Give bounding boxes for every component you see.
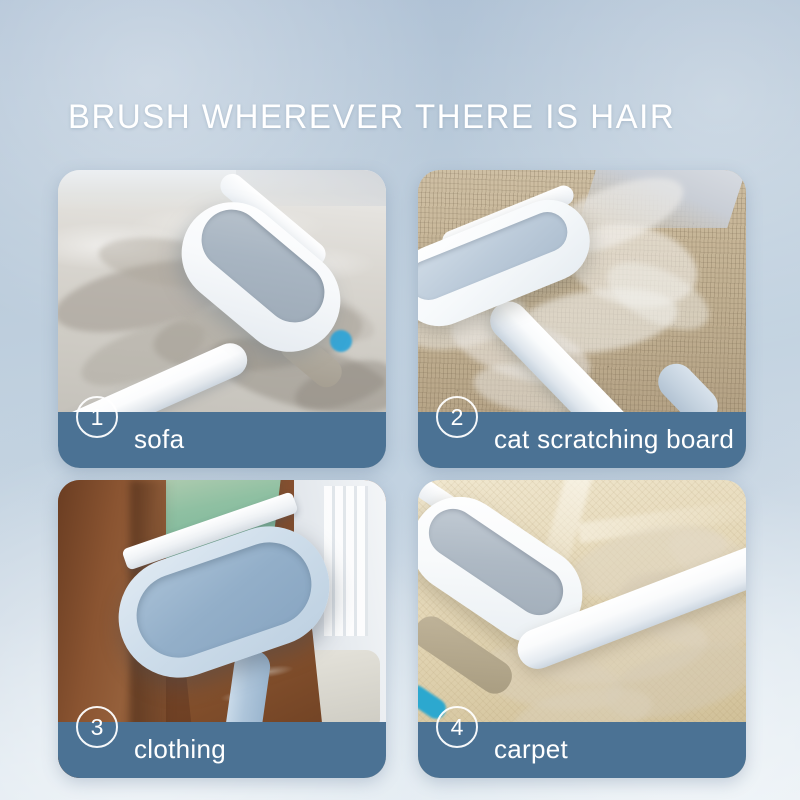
scenario-panel-sofa[interactable]: 1 sofa [58,170,386,468]
panel-label-bar: 1 sofa [58,412,386,468]
brush-teal-accent [330,330,352,352]
panel-label-text: sofa [134,426,184,454]
usage-scenario-grid: 1 sofa 2 cat scratching board [58,170,746,778]
panel-number-badge: 3 [76,706,118,748]
panel-label-bar: 2 cat scratching board [418,412,746,468]
panel-label-text: clothing [134,736,226,764]
clothing-background-window [324,486,368,636]
panel-number-badge: 1 [76,396,118,438]
scenario-panel-carpet[interactable]: 4 carpet [418,480,746,778]
panel-label-bar: 3 clothing [58,722,386,778]
panel-label-bar: 4 carpet [418,722,746,778]
panel-number-badge: 4 [436,706,478,748]
scenario-panel-cat-scratching-board[interactable]: 2 cat scratching board [418,170,746,468]
panel-label-text: carpet [494,736,568,764]
panel-number-badge: 2 [436,396,478,438]
panel-label-text: cat scratching board [494,426,734,454]
scenario-panel-clothing[interactable]: 3 clothing [58,480,386,778]
page-title: BRUSH WHEREVER THERE IS HAIR [68,98,728,136]
